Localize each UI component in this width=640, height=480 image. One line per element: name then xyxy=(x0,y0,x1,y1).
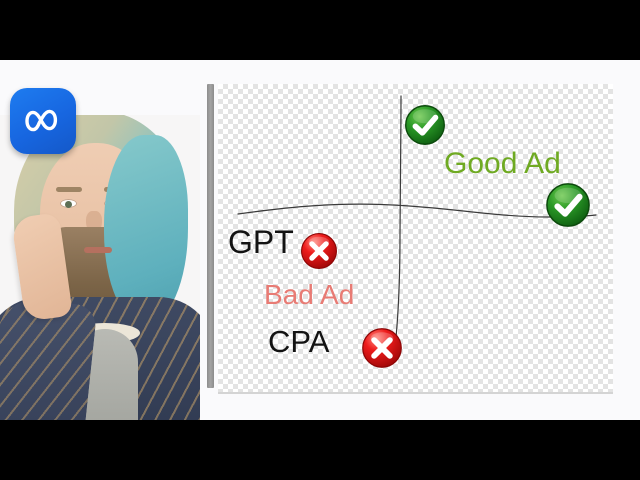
letterbox-bottom-bar xyxy=(0,420,640,480)
label-bad-ad: Bad Ad xyxy=(264,281,354,309)
eyebrow-left xyxy=(56,187,82,192)
y-axis-line xyxy=(394,96,401,356)
mouth xyxy=(84,247,112,253)
red-x-icon xyxy=(361,327,403,369)
label-cpa: CPA xyxy=(268,326,329,357)
green-check-icon xyxy=(545,182,591,228)
pupil-left xyxy=(65,201,72,208)
chart-panel: Good Ad Bad Ad GPT CPA xyxy=(207,84,613,396)
letterbox-top-bar xyxy=(0,0,640,60)
red-x-icon xyxy=(300,232,338,270)
slide-content: Good Ad Bad Ad GPT CPA xyxy=(0,60,640,420)
label-gpt: GPT xyxy=(228,226,294,258)
x-axis-line xyxy=(238,204,596,217)
presenter-photo xyxy=(0,115,200,420)
meta-infinity-icon xyxy=(22,108,64,134)
meta-logo[interactable] xyxy=(10,88,76,154)
chart-scrollbar[interactable] xyxy=(207,84,214,388)
label-good-ad: Good Ad xyxy=(444,149,561,179)
green-check-icon xyxy=(404,104,446,146)
chart-canvas: Good Ad Bad Ad GPT CPA xyxy=(218,84,613,394)
video-frame: Good Ad Bad Ad GPT CPA xyxy=(0,0,640,480)
